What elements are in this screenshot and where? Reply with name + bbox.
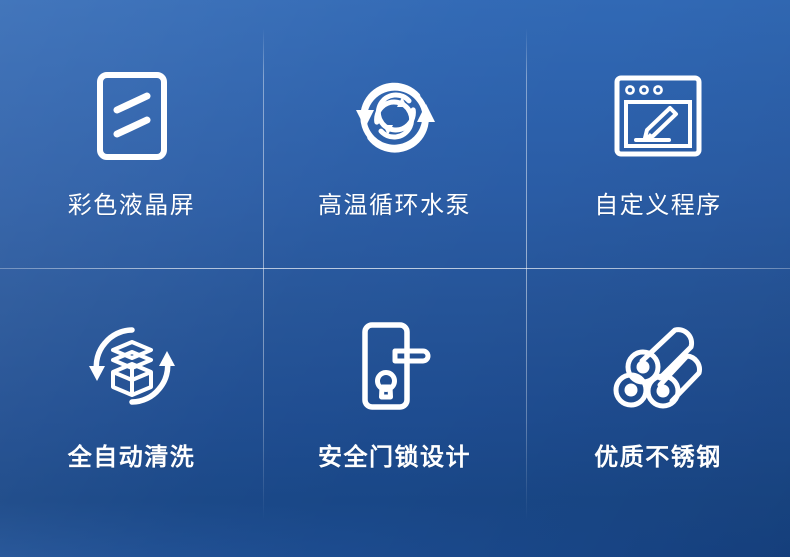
feature-label: 彩色液晶屏 (68, 194, 196, 218)
feature-label: 自定义程序 (594, 194, 722, 218)
window-pencil-icon (612, 70, 704, 162)
feature-cell-custom-program[interactable]: 自定义程序 (526, 0, 790, 268)
feature-cell-color-lcd-screen[interactable]: 彩色液晶屏 (0, 0, 263, 268)
feature-highlight-panel: 彩色液晶屏 高温循环水泵 (0, 0, 790, 557)
circulation-arrows-icon (349, 70, 441, 162)
feature-cell-fully-automatic-cleaning[interactable]: 全自动清洗 (0, 268, 263, 557)
feature-cell-high-temp-circulation-pump[interactable]: 高温循环水泵 (263, 0, 526, 268)
feature-label: 安全门锁设计 (318, 446, 471, 470)
feature-grid: 彩色液晶屏 高温循环水泵 (0, 0, 790, 557)
door-lock-icon (349, 320, 441, 412)
steel-pipes-icon (612, 320, 704, 412)
lcd-screen-icon (86, 70, 178, 162)
feature-label: 高温循环水泵 (318, 194, 471, 218)
feature-cell-safety-door-lock[interactable]: 安全门锁设计 (263, 268, 526, 557)
feature-cell-premium-stainless-steel[interactable]: 优质不锈钢 (526, 268, 790, 557)
box-refresh-icon (86, 320, 178, 412)
feature-label: 优质不锈钢 (594, 446, 722, 470)
feature-label: 全自动清洗 (68, 446, 196, 470)
